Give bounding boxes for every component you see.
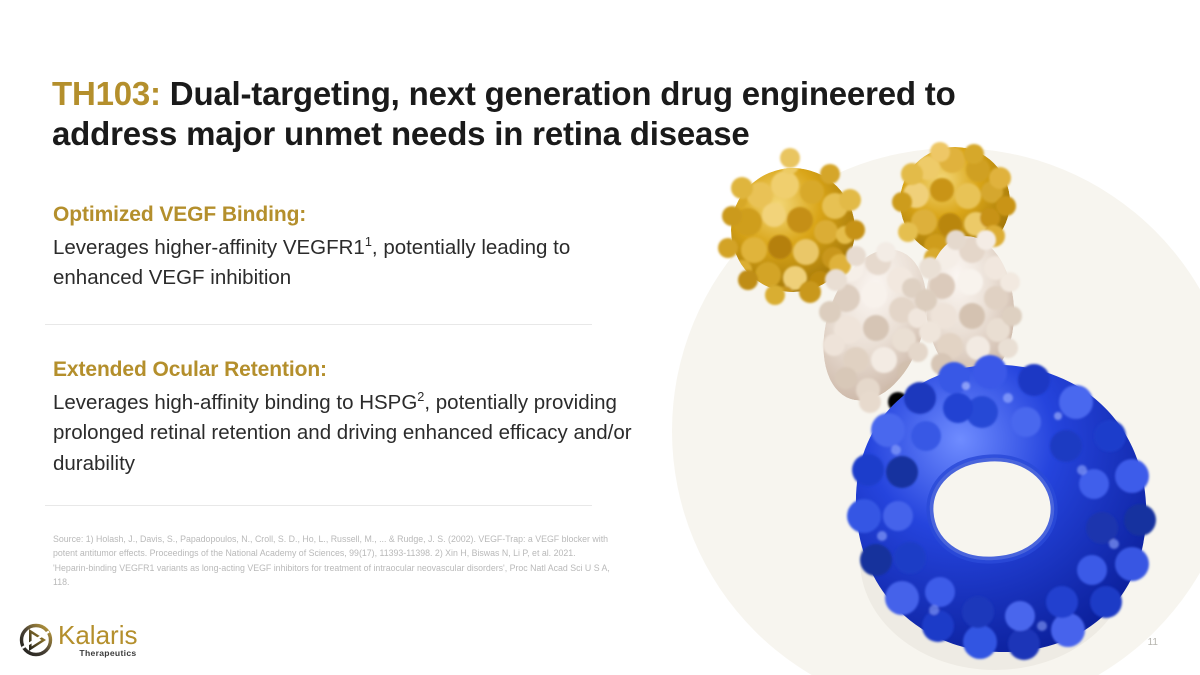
page-number: 11: [1148, 637, 1158, 648]
block-heading: Extended Ocular Retention:: [53, 358, 653, 382]
block-body: Leverages higher-affinity VEGFR11, poten…: [53, 233, 653, 294]
kalaris-logo: Kalaris Therapeutics: [16, 620, 137, 660]
slide-title: TH103: Dual-targeting, next generation d…: [52, 74, 1002, 153]
block-body-before: Leverages high-affinity binding to HSPG: [53, 391, 417, 414]
slide-canvas: TH103: Dual-targeting, next generation d…: [0, 0, 1200, 675]
slide-title-rest: Dual-targeting, next generation drug eng…: [52, 75, 956, 152]
kalaris-logo-wordmark: Kalaris: [58, 622, 137, 648]
block-heading: Optimized VEGF Binding:: [53, 203, 653, 227]
kalaris-logo-subtitle: Therapeutics: [79, 649, 136, 658]
content-block-extended-ocular-retention: Extended Ocular Retention: Leverages hig…: [53, 358, 653, 479]
kalaris-logo-text: Kalaris Therapeutics: [58, 622, 137, 658]
source-footnote: Source: 1) Holash, J., Davis, S., Papado…: [53, 532, 613, 589]
slide-title-accent: TH103:: [52, 75, 161, 112]
footnote-marker-1: 1: [365, 234, 372, 249]
block-body-before: Leverages higher-affinity VEGFR1: [53, 236, 365, 259]
content-block-optimized-vegf-binding: Optimized VEGF Binding: Leverages higher…: [53, 203, 653, 294]
th103-protein-structure-render: [690, 140, 1200, 675]
section-divider-1: [45, 324, 592, 325]
section-divider-2: [45, 505, 592, 506]
block-body: Leverages high-affinity binding to HSPG2…: [53, 388, 653, 479]
kalaris-circle-arrow-mark: [16, 620, 56, 660]
